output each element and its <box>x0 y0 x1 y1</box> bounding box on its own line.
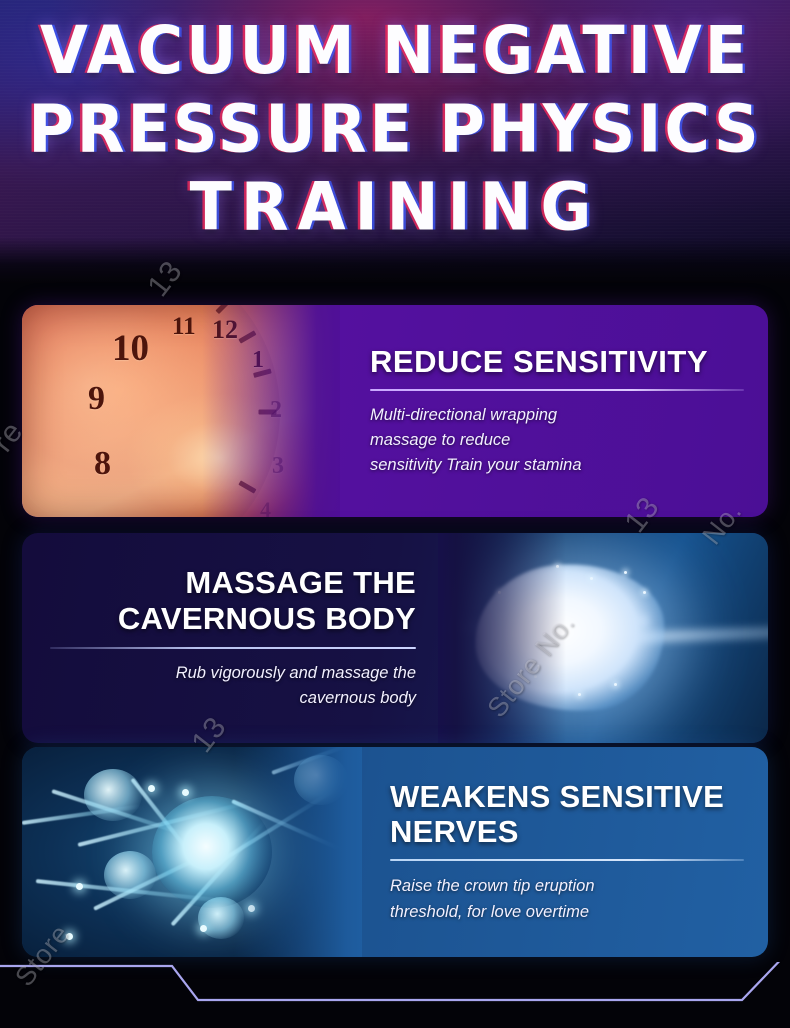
card-body-2-line-2: cavernous body <box>176 686 416 711</box>
card-media-plasma <box>438 533 768 743</box>
card-body-1: Multi-directional wrapping massage to re… <box>370 403 744 478</box>
card-title-3: WEAKENS SENSITIVE NERVES <box>390 779 744 849</box>
title-line-2: PRESSURE PHYSICS <box>0 90 790 168</box>
card-body-3: Raise the crown tip eruption threshold, … <box>390 873 744 925</box>
card-body-2: Rub vigorously and massage the cavernous… <box>176 661 416 711</box>
card-title-1: REDUCE SENSITIVITY <box>370 345 744 379</box>
poster-header: VACUUM NEGATIVE PRESSURE PHYSICS TRAININ… <box>0 0 790 283</box>
bottom-decor <box>0 962 790 1028</box>
card-body-1-line-3: sensitivity Train your stamina <box>370 453 744 478</box>
clock-sunset-icon: 10 11 12 1 9 2 8 3 4 <box>22 305 340 517</box>
card-divider-3 <box>390 859 744 861</box>
card-media-neuron <box>22 747 362 957</box>
card-title-3-line-1: WEAKENS SENSITIVE <box>390 779 744 814</box>
card-body-1-line-1: Multi-directional wrapping <box>370 403 744 428</box>
poster-root: VACUUM NEGATIVE PRESSURE PHYSICS TRAININ… <box>0 0 790 1028</box>
plasma-energy-icon <box>438 533 768 743</box>
page-title: VACUUM NEGATIVE PRESSURE PHYSICS TRAININ… <box>0 11 790 246</box>
title-line-1: VACUUM NEGATIVE <box>0 11 790 89</box>
card-copy-2: MASSAGE THE CAVERNOUS BODY Rub vigorousl… <box>22 533 438 743</box>
card-divider-1 <box>370 389 744 391</box>
media-fade-right <box>234 747 362 957</box>
card-media-clock: 10 11 12 1 9 2 8 3 4 <box>22 305 340 517</box>
card-body-1-line-2: massage to reduce <box>370 428 744 453</box>
feature-card-reduce-sensitivity[interactable]: 10 11 12 1 9 2 8 3 4 REDUCE SENSI <box>22 305 768 517</box>
card-body-3-line-1: Raise the crown tip eruption <box>390 873 744 899</box>
card-divider-2 <box>50 647 416 649</box>
card-title-2-line-2: CAVERNOUS BODY <box>118 601 416 637</box>
card-body-3-line-2: threshold, for love overtime <box>390 899 744 925</box>
feature-card-weakens-sensitive-nerves[interactable]: WEAKENS SENSITIVE NERVES Raise the crown… <box>22 747 768 957</box>
card-copy-3: WEAKENS SENSITIVE NERVES Raise the crown… <box>362 747 768 957</box>
angled-chevron-line-icon <box>0 962 790 1028</box>
card-title-3-line-2: NERVES <box>390 814 744 849</box>
media-fade-right <box>202 305 340 517</box>
feature-card-massage-cavernous-body[interactable]: MASSAGE THE CAVERNOUS BODY Rub vigorousl… <box>22 533 768 743</box>
neuron-network-icon <box>22 747 362 957</box>
card-body-2-line-1: Rub vigorously and massage the <box>176 661 416 686</box>
card-title-2-line-1: MASSAGE THE <box>118 565 416 601</box>
title-line-3: TRAINING <box>0 168 790 246</box>
card-title-2: MASSAGE THE CAVERNOUS BODY <box>118 565 416 637</box>
media-fade-left <box>438 533 566 743</box>
card-copy-1: REDUCE SENSITIVITY Multi-directional wra… <box>340 305 768 517</box>
